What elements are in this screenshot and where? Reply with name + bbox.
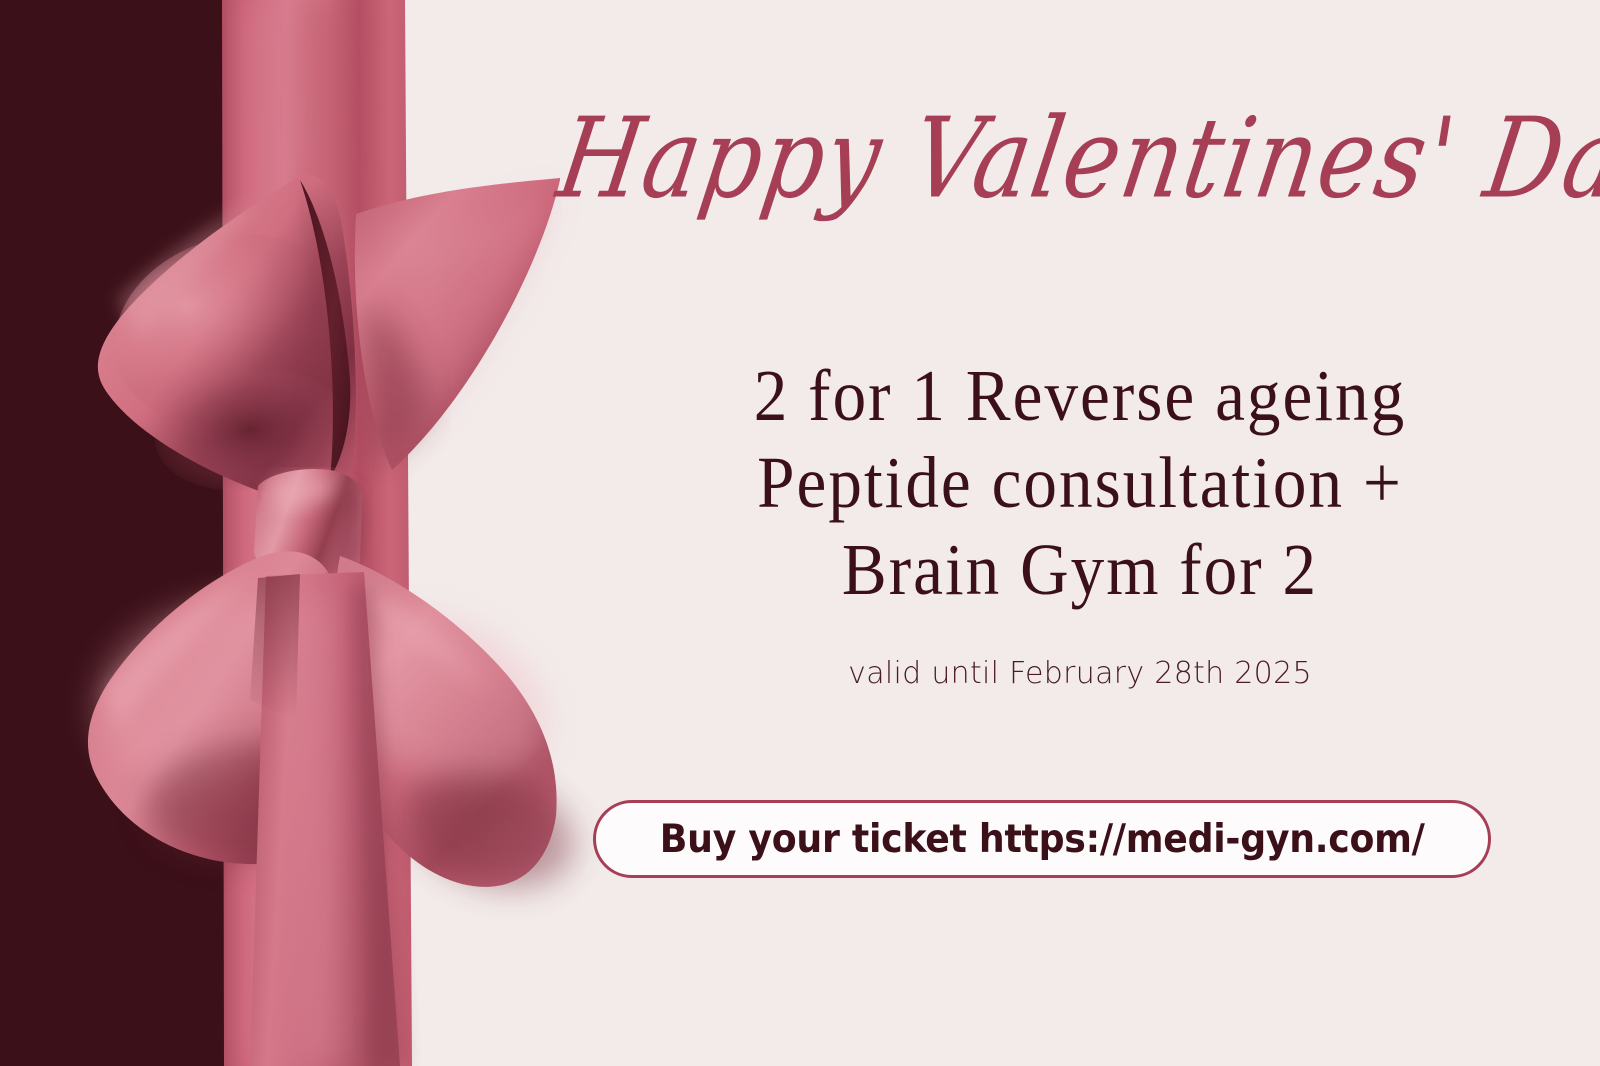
buy-ticket-label: Buy your ticket https://medi-gyn.com/: [660, 817, 1425, 862]
headline-block: 2 for 1 Reverse ageing Peptide consultat…: [560, 352, 1600, 613]
buy-ticket-button[interactable]: Buy your ticket https://medi-gyn.com/: [593, 800, 1491, 878]
ribbon-bow-artwork: [0, 0, 620, 1066]
script-heading: Happy Valentines' Day: [550, 99, 1600, 221]
valentines-promo-poster: Happy Valentines' Day 2 for 1 Reverse ag…: [0, 0, 1600, 1066]
cta-container: Buy your ticket https://medi-gyn.com/: [593, 800, 1491, 878]
validity-text: valid until February 28th 2025: [560, 656, 1600, 691]
content-column: Happy Valentines' Day 2 for 1 Reverse ag…: [560, 0, 1600, 1066]
headline-line-3: Brain Gym for 2: [602, 526, 1559, 613]
headline-line-2: Peptide consultation +: [602, 439, 1559, 526]
bow-loop-upper-right: [355, 178, 560, 470]
headline-line-1: 2 for 1 Reverse ageing: [602, 352, 1559, 439]
dark-panel: [0, 0, 226, 1066]
